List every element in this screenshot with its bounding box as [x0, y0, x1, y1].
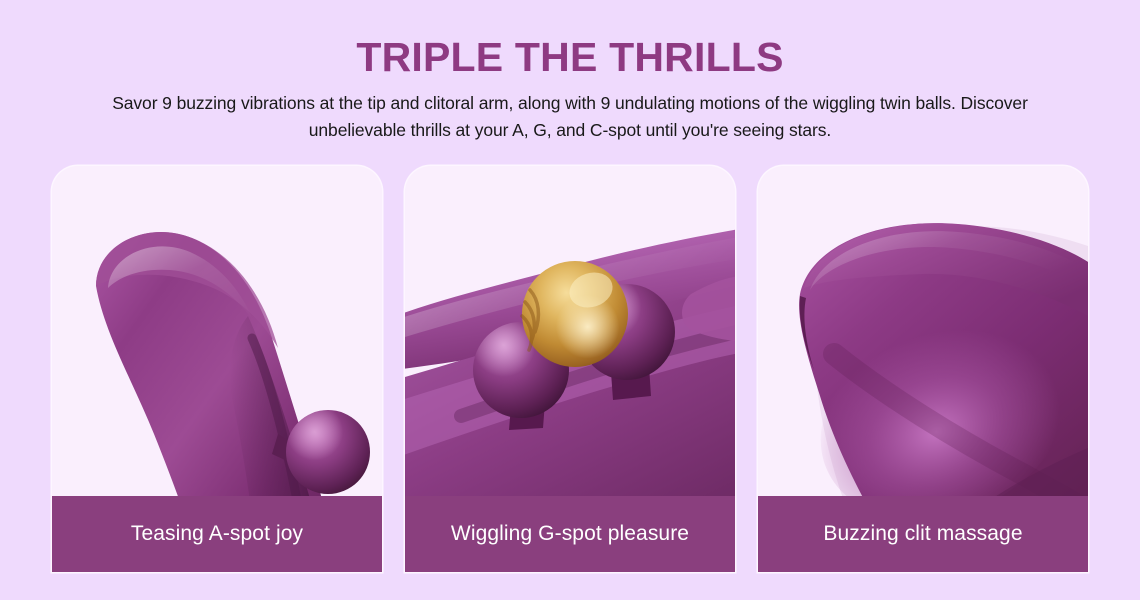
header: TRIPLE THE THRILLS Savor 9 buzzing vibra… [0, 0, 1140, 144]
card-caption-bar: Buzzing clit massage [758, 496, 1088, 572]
card-caption-bar: Wiggling G-spot pleasure [405, 496, 735, 572]
page-title: TRIPLE THE THRILLS [0, 0, 1140, 82]
card-caption-text: Wiggling G-spot pleasure [451, 521, 689, 547]
feature-card-list: Teasing A-spot joy [52, 166, 1088, 572]
card-caption-text: Buzzing clit massage [823, 521, 1022, 547]
feature-card-buzzing-clit-massage[interactable]: Buzzing clit massage [758, 166, 1088, 572]
feature-card-wiggling-g-spot[interactable]: Wiggling G-spot pleasure [405, 166, 735, 572]
card-caption-text: Teasing A-spot joy [131, 521, 303, 547]
card-caption-bar: Teasing A-spot joy [52, 496, 382, 572]
page-subtitle: Savor 9 buzzing vibrations at the tip an… [75, 82, 1065, 144]
promo-page: TRIPLE THE THRILLS Savor 9 buzzing vibra… [0, 0, 1140, 600]
feature-card-teasing-a-spot[interactable]: Teasing A-spot joy [52, 166, 382, 572]
